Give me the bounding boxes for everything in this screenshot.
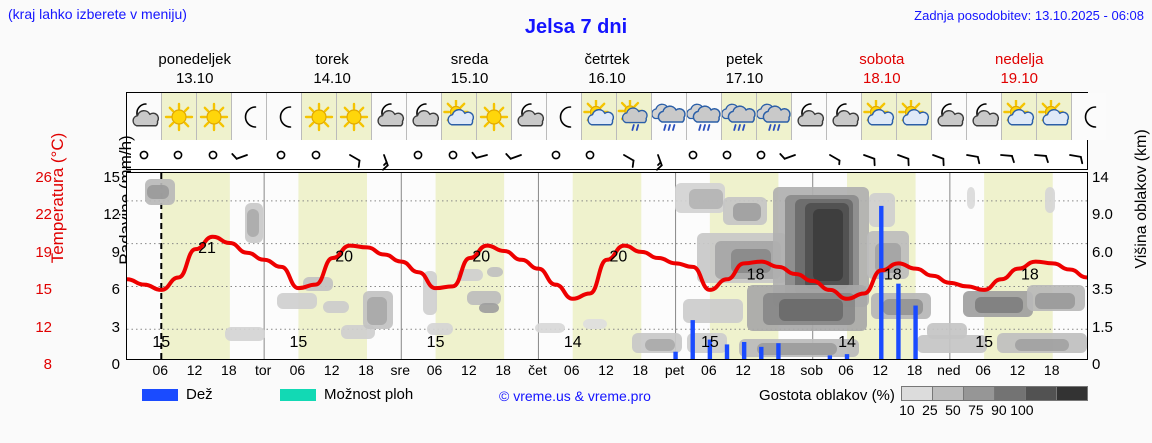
weather-icon-cell-21 [862, 93, 897, 140]
weather-icon-cell-15 [652, 93, 687, 140]
x-tick-18: 18 [907, 362, 923, 378]
cloud-density-legend-label: Gostota oblakov (%) [759, 386, 895, 404]
x-tick-12: 12 [598, 362, 614, 378]
rain-color-swatch [142, 389, 178, 401]
x-tick-sob: sob [800, 362, 823, 378]
sun-icon [302, 100, 336, 134]
day-header-sobota: sobota18.10 [813, 50, 950, 90]
wind-barb-4 [264, 140, 298, 170]
tick-label: 0 [112, 357, 120, 372]
cloud-density-scale: 1025507590100 [901, 386, 1088, 418]
weather-icon-cell-6 [337, 93, 372, 140]
temp-annotation: 15 [975, 334, 993, 351]
x-tick-18: 18 [358, 362, 374, 378]
cloud-density-swatches [901, 386, 1088, 401]
x-tick-06: 06 [701, 362, 717, 378]
temp-annotation: 20 [472, 249, 490, 266]
weather-icon-cell-18 [757, 93, 792, 140]
weather-icon-cell-7 [372, 93, 407, 140]
moon-cloud-icon [372, 100, 406, 134]
weather-icon-cell-9 [442, 93, 477, 140]
x-tick-18: 18 [632, 362, 648, 378]
weather-icon-cell-25 [1002, 93, 1037, 140]
cloud-height-tick-labels: 149.06.03.51.50 [1092, 170, 1138, 365]
x-tick-18: 18 [495, 362, 511, 378]
temp-annotation: 14 [564, 334, 582, 351]
x-tick-06: 06 [564, 362, 580, 378]
weather-icon-cell-13 [582, 93, 617, 140]
tick-label: 0 [1092, 357, 1100, 372]
cloud-density-legend: Gostota oblakov (%) 1025507590100 [759, 386, 1088, 418]
precipitation-tick-labels: 15129630 [86, 170, 120, 365]
wind-barb-21 [847, 140, 881, 170]
weather-icon-cell-1 [162, 93, 197, 140]
x-tick-06: 06 [152, 362, 168, 378]
wind-barb-8 [401, 140, 435, 170]
tick-label: 22 [35, 207, 52, 222]
wind-barb-11 [504, 140, 538, 170]
weather-icon-cell-16 [687, 93, 722, 140]
x-tick-12: 12 [461, 362, 477, 378]
tick-label: 8 [44, 357, 52, 372]
temp-annotation: 18 [747, 266, 765, 283]
x-tick-čet: čet [528, 362, 547, 378]
cloud-density-swatch-90 [1025, 386, 1056, 401]
x-tick-18: 18 [1044, 362, 1060, 378]
x-tick-06: 06 [427, 362, 443, 378]
sun-cloud-icon [1037, 100, 1071, 134]
wind-barb-19 [778, 140, 812, 170]
temp-annotation: 18 [1021, 266, 1039, 283]
wind-barb-15 [641, 140, 675, 170]
tick-label: 15 [35, 282, 52, 297]
legend-rain: Dež [142, 386, 213, 403]
day-header-petek: petek17.10 [676, 50, 813, 90]
showers-color-swatch [280, 389, 316, 401]
legend-showers-label: Možnost ploh [324, 386, 413, 403]
temp-annotation: 14 [838, 334, 856, 351]
cloud-rain-icon [652, 100, 686, 134]
weather-icon-cell-14 [617, 93, 652, 140]
wind-barb-10 [470, 140, 504, 170]
wind-barb-18 [744, 140, 778, 170]
moon-cloud-icon [407, 100, 441, 134]
tick-label: 15 [103, 170, 120, 185]
tick-label: 6.0 [1092, 245, 1113, 260]
weather-icon-cell-8 [407, 93, 442, 140]
day-name: sobota [813, 50, 950, 69]
cloud-density-swatch-100 [1056, 386, 1088, 401]
x-tick-sre: sre [391, 362, 410, 378]
temp-annotation: 20 [610, 249, 628, 266]
weather-icon-cell-5 [302, 93, 337, 140]
weather-icon-cell-10 [477, 93, 512, 140]
sun-cloud-icon [582, 100, 616, 134]
moon-icon [267, 100, 301, 134]
sun-icon [337, 100, 371, 134]
sun-cloud-icon [897, 100, 931, 134]
last-update-text: Zadnja posodobitev: 13.10.2025 - 06:08 [914, 8, 1144, 23]
day-name: petek [676, 50, 813, 69]
wind-barb-5 [298, 140, 332, 170]
weather-icon-cell-22 [897, 93, 932, 140]
wind-barb-9 [436, 140, 470, 170]
weather-icon-cell-26 [1037, 93, 1072, 140]
moon-cloud-icon [967, 100, 1001, 134]
day-date: 17.10 [676, 69, 813, 88]
wind-barb-17 [710, 140, 744, 170]
cloud-rain-icon [722, 100, 756, 134]
legend-rain-label: Dež [186, 386, 213, 403]
moon-cloud-icon [932, 100, 966, 134]
temp-annotation: 15 [290, 334, 308, 351]
day-name: nedelja [951, 50, 1088, 69]
x-axis-tick-labels: 061218tor061218sre061218čet061218pet0612… [126, 362, 1088, 382]
day-name: torek [263, 50, 400, 69]
tick-label: 3.5 [1092, 282, 1113, 297]
day-name: četrtek [538, 50, 675, 69]
weather-icon-cell-27 [1072, 93, 1106, 140]
cloud-rain-icon [687, 100, 721, 134]
tick-label: 12 [35, 320, 52, 335]
wind-barb-14 [607, 140, 641, 170]
temp-annotation: 15 [427, 334, 445, 351]
tick-label: 19 [35, 245, 52, 260]
day-header-ponedeljek: ponedeljek13.10 [126, 50, 263, 90]
x-tick-12: 12 [872, 362, 888, 378]
cloud-density-stop-labels: 1025507590100 [901, 402, 1088, 418]
day-date: 14.10 [263, 69, 400, 88]
sun-cloud-icon [862, 100, 896, 134]
x-tick-12: 12 [324, 362, 340, 378]
x-tick-06: 06 [290, 362, 306, 378]
cloud-rain-icon [757, 100, 791, 134]
weather-icon-cell-19 [792, 93, 827, 140]
x-tick-18: 18 [770, 362, 786, 378]
moon-icon [1072, 100, 1106, 134]
tick-label: 12 [103, 207, 120, 222]
wind-barb-24 [950, 140, 984, 170]
weather-icon-cell-2 [197, 93, 232, 140]
x-tick-06: 06 [838, 362, 854, 378]
temp-annotation: 21 [198, 240, 216, 257]
wind-barb-23 [915, 140, 949, 170]
wind-barb-16 [676, 140, 710, 170]
temperature-tick-labels: 26221915128 [18, 170, 52, 365]
forecast-icon-strip [126, 92, 1088, 170]
tick-label: 14 [1092, 170, 1109, 185]
day-header-nedelja: nedelja19.10 [951, 50, 1088, 90]
wind-barb-6 [333, 140, 367, 170]
wind-barb-20 [813, 140, 847, 170]
day-date: 15.10 [401, 69, 538, 88]
x-tick-ned: ned [937, 362, 960, 378]
cloud-density-swatch-75 [994, 386, 1025, 401]
day-date: 18.10 [813, 69, 950, 88]
day-date: 19.10 [951, 69, 1088, 88]
wind-barb-25 [984, 140, 1018, 170]
x-tick-12: 12 [735, 362, 751, 378]
cloud-density-swatch-50 [963, 386, 994, 401]
copyright-link[interactable]: © vreme.us & vreme.pro [499, 388, 651, 404]
wind-barb-13 [573, 140, 607, 170]
weather-icon-cell-3 [232, 93, 267, 140]
day-name: sreda [401, 50, 538, 69]
weather-icon-cell-12 [547, 93, 582, 140]
cloud-density-swatch-10 [901, 386, 932, 401]
moon-cloud-icon [827, 100, 861, 134]
day-header-row: ponedeljek13.10torek14.10sreda15.10četrt… [126, 50, 1088, 90]
x-tick-18: 18 [221, 362, 237, 378]
weather-icon-cell-4 [267, 93, 302, 140]
cloud-density-stop: 100 [1007, 402, 1037, 418]
temp-annotation: 15 [701, 334, 719, 351]
wind-barb-26 [1018, 140, 1052, 170]
day-header-četrtek: četrtek16.10 [538, 50, 675, 90]
cloud-density-swatch-25 [932, 386, 963, 401]
weather-icon-row [127, 93, 1087, 140]
tick-label: 3 [112, 320, 120, 335]
x-tick-tor: tor [255, 362, 271, 378]
wind-barb-22 [881, 140, 915, 170]
wind-barb-1 [161, 140, 195, 170]
plot-canvas: 152115201520142015181418151816 [127, 173, 1087, 359]
wind-barb-12 [538, 140, 572, 170]
moon-icon [232, 100, 266, 134]
day-header-torek: torek14.10 [263, 50, 400, 90]
tick-label: 9.0 [1092, 207, 1113, 222]
day-date: 16.10 [538, 69, 675, 88]
x-tick-12: 12 [1010, 362, 1026, 378]
weather-icon-cell-23 [932, 93, 967, 140]
day-name: ponedeljek [126, 50, 263, 69]
tick-label: 1.5 [1092, 320, 1113, 335]
tick-label: 6 [112, 282, 120, 297]
weather-icon-cell-20 [827, 93, 862, 140]
legend-showers: Možnost ploh [280, 386, 413, 403]
temp-annotation: 20 [335, 249, 353, 266]
sun-cloud-icon [1002, 100, 1036, 134]
sun-icon [477, 100, 511, 134]
wind-barb-3 [230, 140, 264, 170]
sun-icon [162, 100, 196, 134]
tick-label: 26 [35, 170, 52, 185]
weather-icon-cell-11 [512, 93, 547, 140]
wind-barb-27 [1053, 140, 1087, 170]
day-date: 13.10 [126, 69, 263, 88]
x-tick-pet: pet [665, 362, 684, 378]
x-tick-06: 06 [975, 362, 991, 378]
sun-icon [197, 100, 231, 134]
day-header-sreda: sreda15.10 [401, 50, 538, 90]
weather-icon-cell-17 [722, 93, 757, 140]
x-tick-12: 12 [187, 362, 203, 378]
wind-barb-7 [367, 140, 401, 170]
moon-cloud-icon [792, 100, 826, 134]
temp-annotation: 15 [152, 334, 170, 351]
temp-annotation: 18 [884, 266, 902, 283]
moon-icon [547, 100, 581, 134]
forecast-plot: 152115201520142015181418151816 [126, 172, 1088, 360]
moon-cloud-icon [512, 100, 546, 134]
sun-cloud-rain-icon [617, 100, 651, 134]
chart-legend: Dež Možnost ploh © vreme.us & vreme.pro … [126, 386, 1140, 432]
tick-label: 9 [112, 245, 120, 260]
weather-icon-cell-24 [967, 93, 1002, 140]
sun-cloud-icon [442, 100, 476, 134]
wind-barb-row [127, 140, 1087, 170]
wind-barb-2 [196, 140, 230, 170]
